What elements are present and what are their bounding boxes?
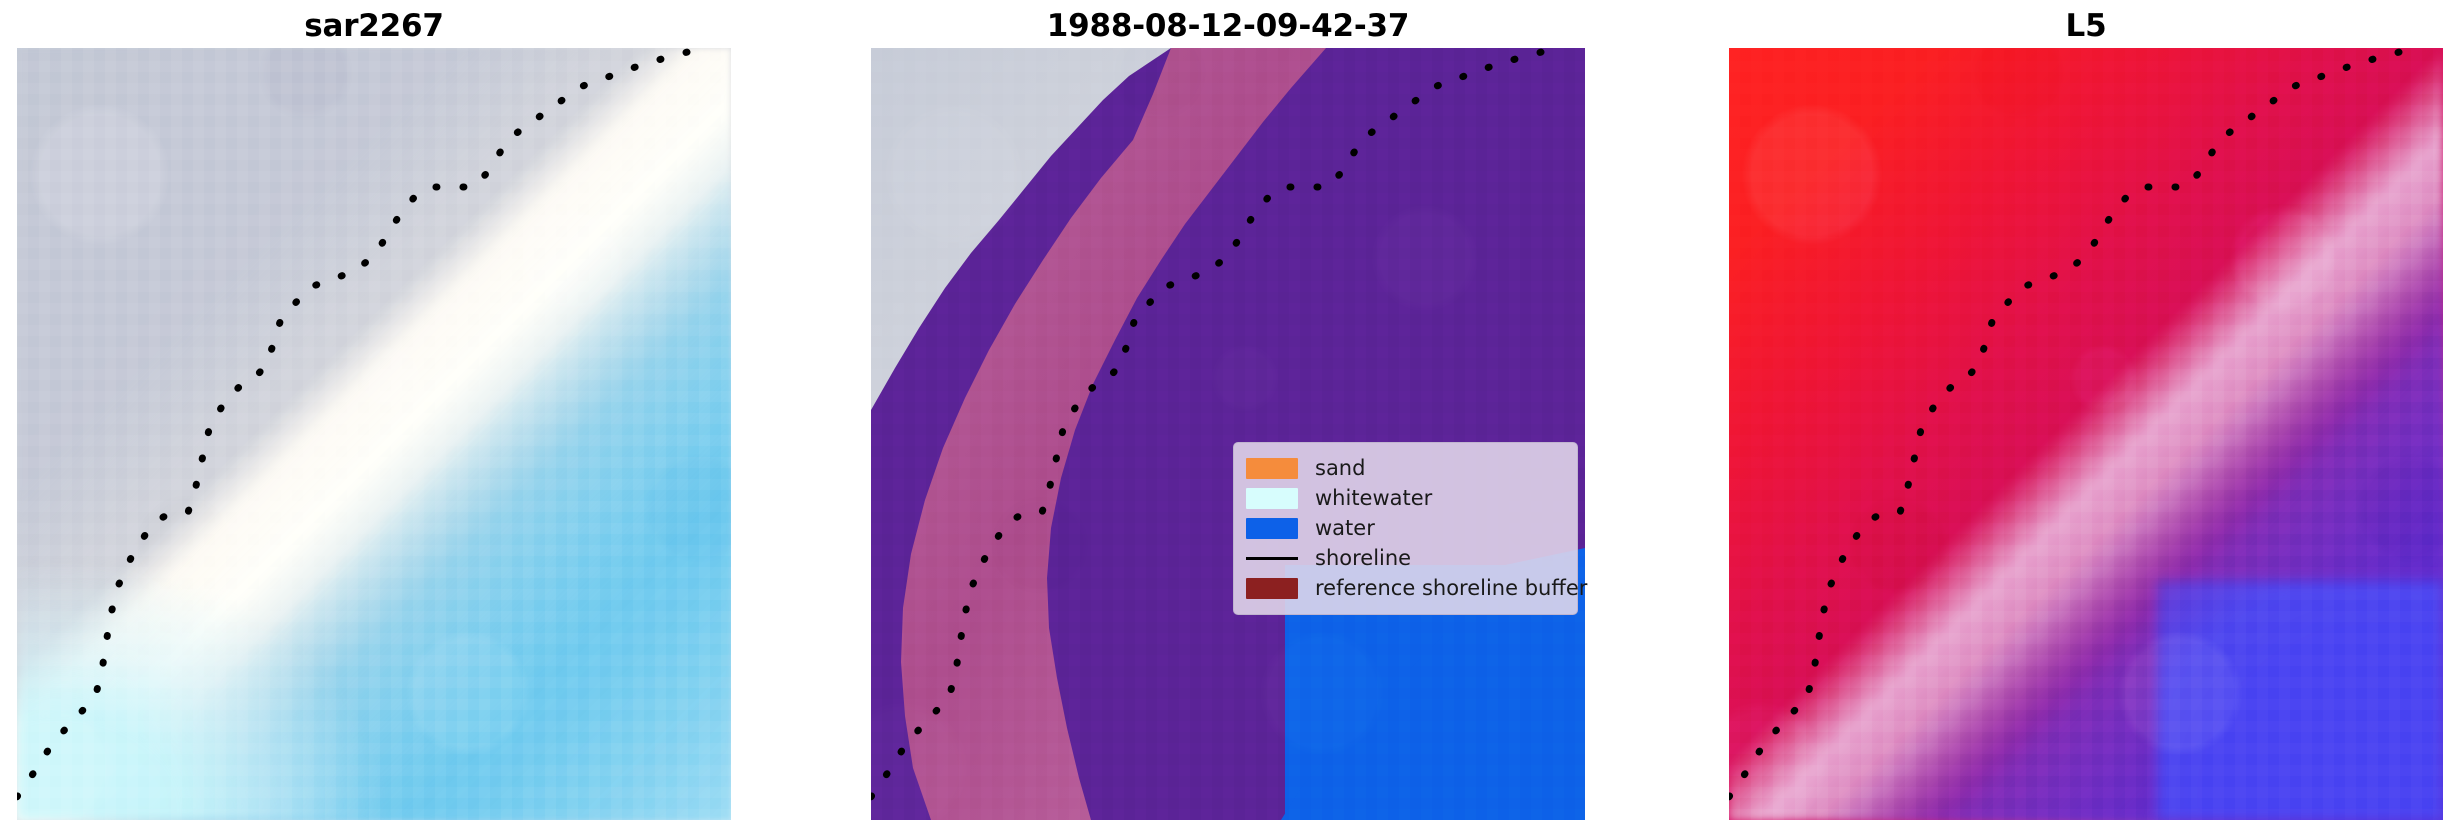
image-panel-L5[interactable] [1729,48,2443,820]
legend-swatch-whitewater [1246,488,1298,509]
legend-item-shoreline: shoreline [1246,543,1565,573]
legend-item-water: water [1246,513,1565,543]
legend-label-shoreline: shoreline [1315,543,1411,573]
legend-label-water: water [1315,513,1375,543]
shoreline-overlay-1 [17,48,731,820]
panel-title-2: 1988-08-12-09-42-37 [871,6,1585,46]
shoreline-overlay-2 [871,48,1585,820]
legend-item-whitewater: whitewater [1246,483,1565,513]
legend-swatch-shoreline [1246,548,1298,569]
legend-item-sand: sand [1246,453,1565,483]
legend-swatch-water [1246,518,1298,539]
legend-swatch-sand [1246,458,1298,479]
legend-label-buffer: reference shoreline buffer [1315,573,1587,603]
shoreline-overlay-3 [1729,48,2443,820]
legend-item-buffer: reference shoreline buffer [1246,573,1565,603]
figure-canvas: sar2267 1988-08-12-09-42-37 L5 [0,0,2460,836]
panel-title-3: L5 [1729,6,2443,46]
image-panel-sar2267[interactable] [17,48,731,820]
legend-label-sand: sand [1315,453,1365,483]
legend-label-whitewater: whitewater [1315,483,1432,513]
panel-title-1: sar2267 [17,6,731,46]
image-panel-classified[interactable] [871,48,1585,820]
legend-swatch-buffer [1246,578,1298,599]
legend-box: sand whitewater water shoreline referenc… [1233,442,1578,615]
